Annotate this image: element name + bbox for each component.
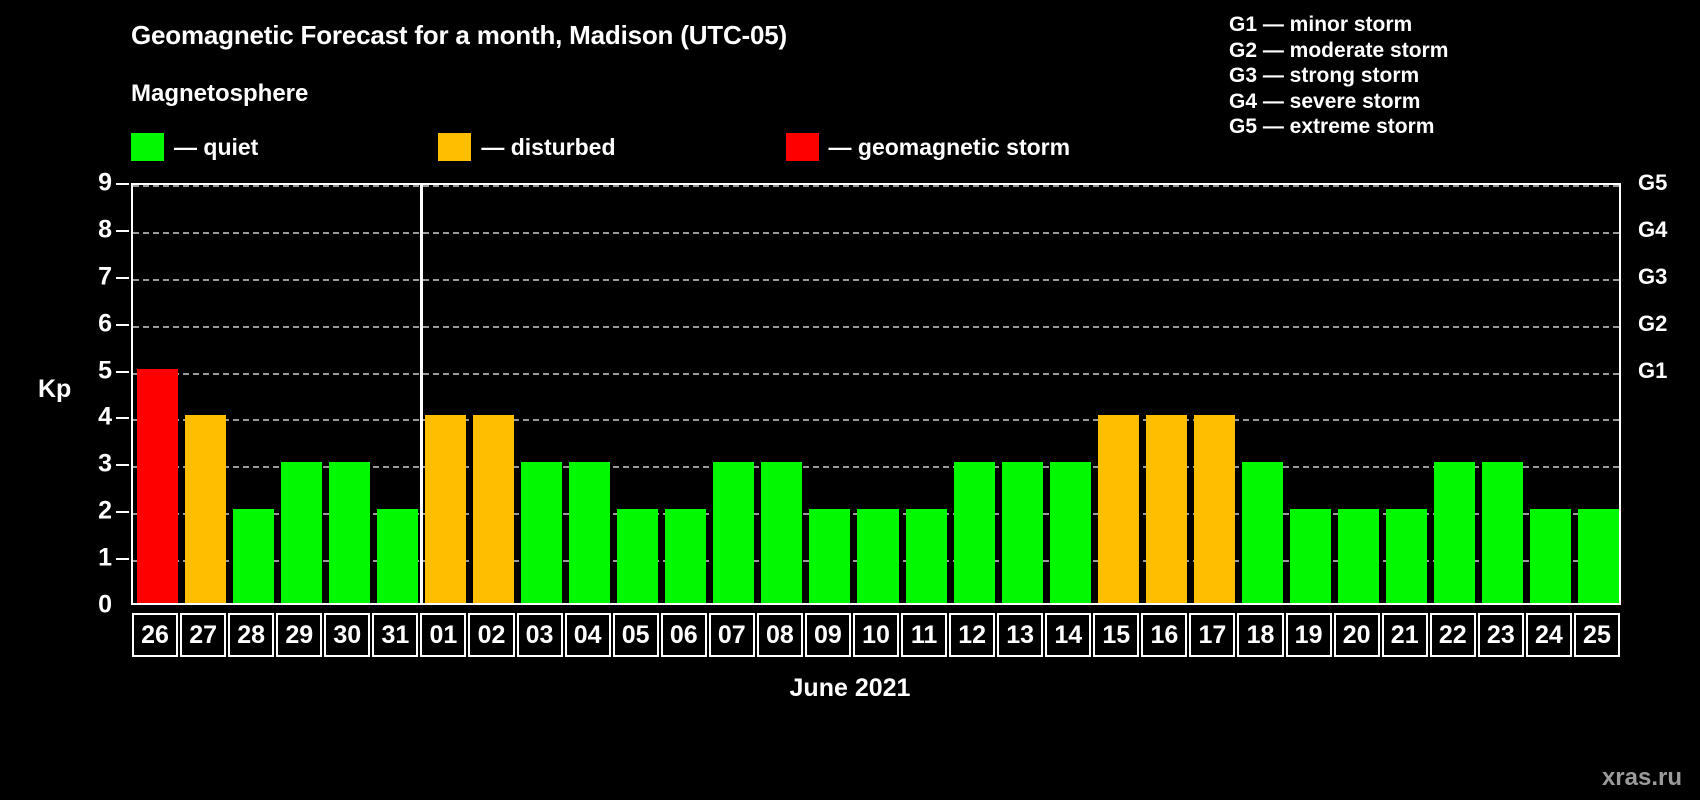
y-tick-label-2: 2 xyxy=(98,497,112,526)
day-label-14: 14 xyxy=(1045,613,1091,657)
y-tick-mark-3 xyxy=(116,464,129,466)
day-label-25: 25 xyxy=(1574,613,1620,657)
magnetosphere-legend: — quiet— disturbed— geomagnetic storm xyxy=(131,133,1070,161)
day-label-13: 13 xyxy=(997,613,1043,657)
plot-inner xyxy=(133,185,1619,603)
day-label-26: 26 xyxy=(132,613,178,657)
g-scale-row-g1: G1 — minor storm xyxy=(1229,12,1448,38)
legend-label-disturbed: — disturbed xyxy=(481,134,615,161)
bar-day-02 xyxy=(473,415,514,603)
bar-day-27 xyxy=(185,415,226,603)
day-label-21: 21 xyxy=(1382,613,1428,657)
day-label-03: 03 xyxy=(517,613,563,657)
bar-day-05 xyxy=(617,509,658,603)
day-label-19: 19 xyxy=(1286,613,1332,657)
day-label-06: 06 xyxy=(661,613,707,657)
y-axis-tick-labels: 0123456789 xyxy=(76,183,112,605)
bar-day-20 xyxy=(1338,509,1379,603)
bar-day-15 xyxy=(1098,415,1139,603)
g-axis-label-g2: G2 xyxy=(1638,311,1667,337)
day-label-11: 11 xyxy=(901,613,947,657)
legend-label-quiet: — quiet xyxy=(174,134,258,161)
bar-day-04 xyxy=(569,462,610,603)
bar-day-21 xyxy=(1386,509,1427,603)
bar-day-18 xyxy=(1242,462,1283,603)
bar-day-03 xyxy=(521,462,562,603)
x-axis-day-boxes: 2627282930310102030405060708091011121314… xyxy=(131,613,1621,657)
g-scale-row-g3: G3 — strong storm xyxy=(1229,63,1448,89)
bar-day-22 xyxy=(1434,462,1475,603)
bar-day-14 xyxy=(1050,462,1091,603)
bars xyxy=(133,185,1619,603)
bar-day-16 xyxy=(1146,415,1187,603)
day-label-02: 02 xyxy=(468,613,514,657)
page-title: Geomagnetic Forecast for a month, Madiso… xyxy=(131,20,787,51)
y-tick-mark-5 xyxy=(116,371,129,373)
day-label-01: 01 xyxy=(420,613,466,657)
y-tick-mark-7 xyxy=(116,277,129,279)
bar-day-09 xyxy=(809,509,850,603)
day-label-24: 24 xyxy=(1526,613,1572,657)
day-label-29: 29 xyxy=(276,613,322,657)
magnetosphere-heading: Magnetosphere xyxy=(131,80,308,108)
bar-day-28 xyxy=(233,509,274,603)
y-tick-label-6: 6 xyxy=(98,309,112,338)
day-label-12: 12 xyxy=(949,613,995,657)
g-axis-label-g4: G4 xyxy=(1638,217,1667,243)
bar-day-07 xyxy=(713,462,754,603)
g-axis-label-g5: G5 xyxy=(1638,170,1667,196)
day-label-17: 17 xyxy=(1189,613,1235,657)
y-tick-label-3: 3 xyxy=(98,450,112,479)
bar-day-11 xyxy=(906,509,947,603)
g-scale-row-g5: G5 — extreme storm xyxy=(1229,114,1448,140)
day-label-30: 30 xyxy=(324,613,370,657)
legend-item-geomagnetic-storm: — geomagnetic storm xyxy=(786,133,1071,161)
y-axis-title: Kp xyxy=(38,375,71,404)
day-label-10: 10 xyxy=(853,613,899,657)
day-label-15: 15 xyxy=(1093,613,1139,657)
y-tick-mark-9 xyxy=(116,183,129,185)
bar-day-01 xyxy=(425,415,466,603)
bar-day-13 xyxy=(1002,462,1043,603)
y-tick-label-9: 9 xyxy=(98,169,112,198)
day-label-31: 31 xyxy=(372,613,418,657)
day-label-04: 04 xyxy=(565,613,611,657)
bar-day-17 xyxy=(1194,415,1235,603)
g-axis-tick-labels: G1G2G3G4G5 xyxy=(1638,183,1698,605)
bar-day-23 xyxy=(1482,462,1523,603)
day-label-08: 08 xyxy=(757,613,803,657)
y-tick-label-8: 8 xyxy=(98,215,112,244)
legend-item-disturbed: — disturbed xyxy=(438,133,615,161)
legend-swatch-quiet xyxy=(131,133,164,161)
y-tick-mark-1 xyxy=(116,558,129,560)
y-tick-label-1: 1 xyxy=(98,544,112,573)
y-tick-mark-6 xyxy=(116,324,129,326)
y-tick-label-5: 5 xyxy=(98,356,112,385)
day-label-27: 27 xyxy=(180,613,226,657)
g-scale-row-g4: G4 — severe storm xyxy=(1229,89,1448,115)
legend-swatch-geomagnetic-storm xyxy=(786,133,819,161)
g-axis-label-g3: G3 xyxy=(1638,264,1667,290)
day-label-09: 09 xyxy=(805,613,851,657)
y-tick-label-4: 4 xyxy=(98,403,112,432)
bar-day-12 xyxy=(954,462,995,603)
watermark: xras.ru xyxy=(1602,764,1682,792)
y-tick-mark-4 xyxy=(116,417,129,419)
plot-area xyxy=(131,183,1621,605)
bar-day-30 xyxy=(329,462,370,603)
y-tick-mark-8 xyxy=(116,230,129,232)
legend-label-geomagnetic-storm: — geomagnetic storm xyxy=(829,134,1071,161)
bar-day-10 xyxy=(857,509,898,603)
x-axis-title: June 2021 xyxy=(0,674,1700,703)
g-axis-label-g1: G1 xyxy=(1638,358,1667,384)
g-scale-legend: G1 — minor stormG2 — moderate stormG3 — … xyxy=(1229,12,1448,140)
bar-day-08 xyxy=(761,462,802,603)
legend-item-quiet: — quiet xyxy=(131,133,258,161)
g-scale-row-g2: G2 — moderate storm xyxy=(1229,38,1448,64)
y-tick-mark-2 xyxy=(116,511,129,513)
legend-swatch-disturbed xyxy=(438,133,471,161)
day-label-20: 20 xyxy=(1334,613,1380,657)
bar-day-06 xyxy=(665,509,706,603)
bar-day-29 xyxy=(281,462,322,603)
y-tick-label-7: 7 xyxy=(98,262,112,291)
day-label-23: 23 xyxy=(1478,613,1524,657)
day-label-05: 05 xyxy=(613,613,659,657)
bar-day-25 xyxy=(1578,509,1619,603)
y-tick-label-0: 0 xyxy=(98,591,112,620)
bar-day-19 xyxy=(1290,509,1331,603)
day-label-07: 07 xyxy=(709,613,755,657)
bar-day-24 xyxy=(1530,509,1571,603)
day-label-16: 16 xyxy=(1141,613,1187,657)
day-label-28: 28 xyxy=(228,613,274,657)
day-label-22: 22 xyxy=(1430,613,1476,657)
day-label-18: 18 xyxy=(1237,613,1283,657)
bar-day-26 xyxy=(137,369,178,603)
bar-day-31 xyxy=(377,509,418,603)
